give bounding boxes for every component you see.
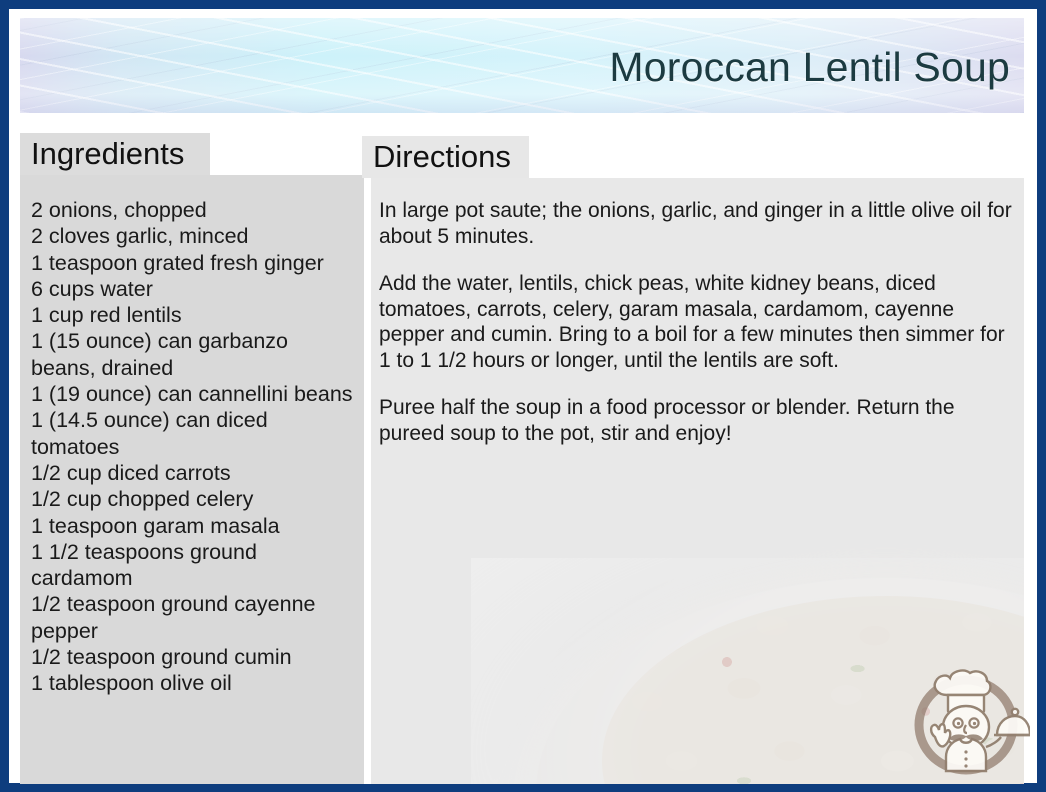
- header-banner: Moroccan Lentil Soup: [20, 18, 1024, 113]
- list-item: 2 cloves garlic, minced: [31, 223, 356, 249]
- list-item: 1/2 teaspoon ground cayenne pepper: [31, 591, 356, 644]
- list-item: 1/2 cup diced carrots: [31, 460, 356, 486]
- tab-ingredients[interactable]: Ingredients: [20, 133, 210, 175]
- list-item: 1/2 cup chopped celery: [31, 486, 356, 512]
- list-item: 1 tablespoon olive oil: [31, 670, 356, 696]
- list-item: 1/2 teaspoon ground cumin: [31, 644, 356, 670]
- direction-step: In large pot saute; the onions, garlic, …: [379, 198, 1018, 249]
- list-item: 1 teaspoon grated fresh ginger: [31, 250, 356, 276]
- directions-text: In large pot saute; the onions, garlic, …: [371, 198, 1024, 468]
- list-item: 1 (14.5 ounce) can diced tomatoes: [31, 407, 356, 460]
- direction-step: Puree half the soup in a food processor …: [379, 395, 1018, 446]
- tab-directions[interactable]: Directions: [362, 136, 529, 178]
- list-item: 6 cups water: [31, 276, 356, 302]
- list-item: 1 cup red lentils: [31, 302, 356, 328]
- list-item: 1 (19 ounce) can cannellini beans: [31, 381, 356, 407]
- page-title: Moroccan Lentil Soup: [609, 44, 1010, 91]
- list-item: 1 1/2 teaspoons ground cardamom: [31, 539, 356, 592]
- list-item: 1 (15 ounce) can garbanzo beans, drained: [31, 328, 356, 381]
- column-divider: [364, 175, 371, 784]
- direction-step: Add the water, lentils, chick peas, whit…: [379, 271, 1018, 373]
- page-border: Moroccan Lentil Soup Ingredients Directi…: [0, 0, 1046, 792]
- recipe-card: Moroccan Lentil Soup Ingredients Directi…: [9, 9, 1037, 783]
- chef-logo: [902, 651, 1030, 779]
- ingredients-list: 2 onions, chopped 2 cloves garlic, mince…: [20, 197, 356, 697]
- list-item: 1 teaspoon garam masala: [31, 513, 356, 539]
- list-item: 2 onions, chopped: [31, 197, 356, 223]
